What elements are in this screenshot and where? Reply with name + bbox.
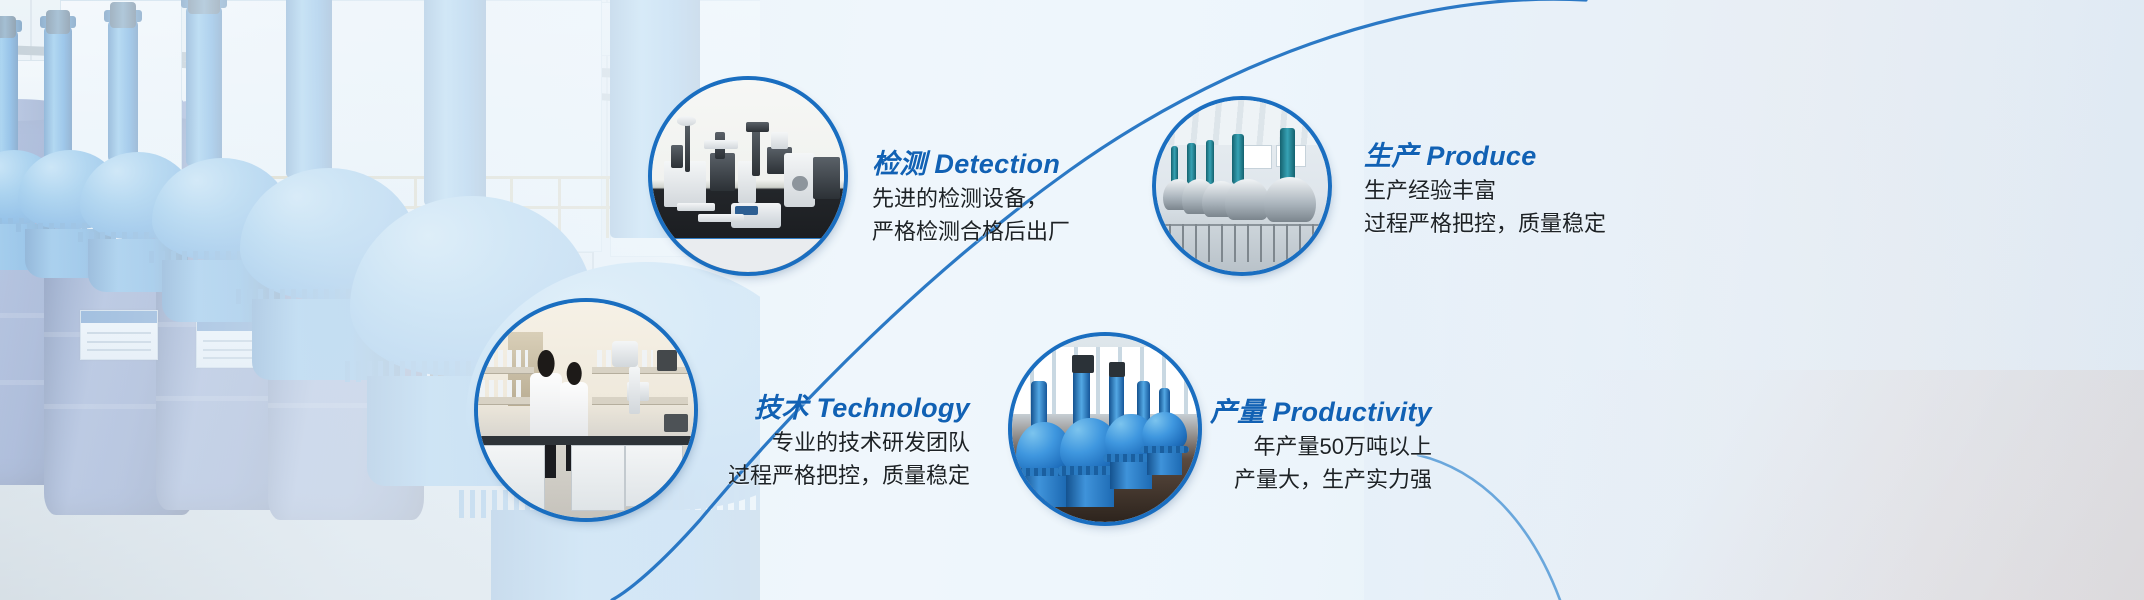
productivity-line-1: 年产量50万吨以上 <box>962 430 1432 463</box>
produce-heading: 生产 Produce <box>1364 140 1606 174</box>
company-strength-banner: 检测 Detection 先进的检测设备， 严格检测合格后出厂 生产 Produ… <box>0 0 2144 600</box>
detection-text-block: 检测 Detection 先进的检测设备， 严格检测合格后出厂 <box>872 148 1070 249</box>
bottom-warm-overlay <box>1424 370 2144 600</box>
productivity-line-2: 产量大，生产实力强 <box>962 463 1432 496</box>
productivity-text-block: 产量 Productivity 年产量50万吨以上 产量大，生产实力强 <box>962 396 1432 497</box>
produce-photo-circle[interactable] <box>1156 100 1328 272</box>
detection-photo-circle[interactable] <box>652 80 844 272</box>
produce-line-2: 过程严格把控，质量稳定 <box>1364 207 1606 240</box>
detection-line-2: 严格检测合格后出厂 <box>872 215 1070 248</box>
detection-heading: 检测 Detection <box>872 148 1070 182</box>
productivity-heading: 产量 Productivity <box>962 396 1432 430</box>
technology-heading: 技术 Technology <box>470 392 970 426</box>
produce-text-block: 生产 Produce 生产经验丰富 过程严格把控，质量稳定 <box>1364 140 1606 241</box>
produce-line-1: 生产经验丰富 <box>1364 174 1606 207</box>
technology-text-block: 技术 Technology 专业的技术研发团队 过程严格把控，质量稳定 <box>470 392 970 493</box>
technology-line-1: 专业的技术研发团队 <box>470 426 970 459</box>
technology-line-2: 过程严格把控，质量稳定 <box>470 459 970 492</box>
detection-line-1: 先进的检测设备， <box>872 182 1070 215</box>
